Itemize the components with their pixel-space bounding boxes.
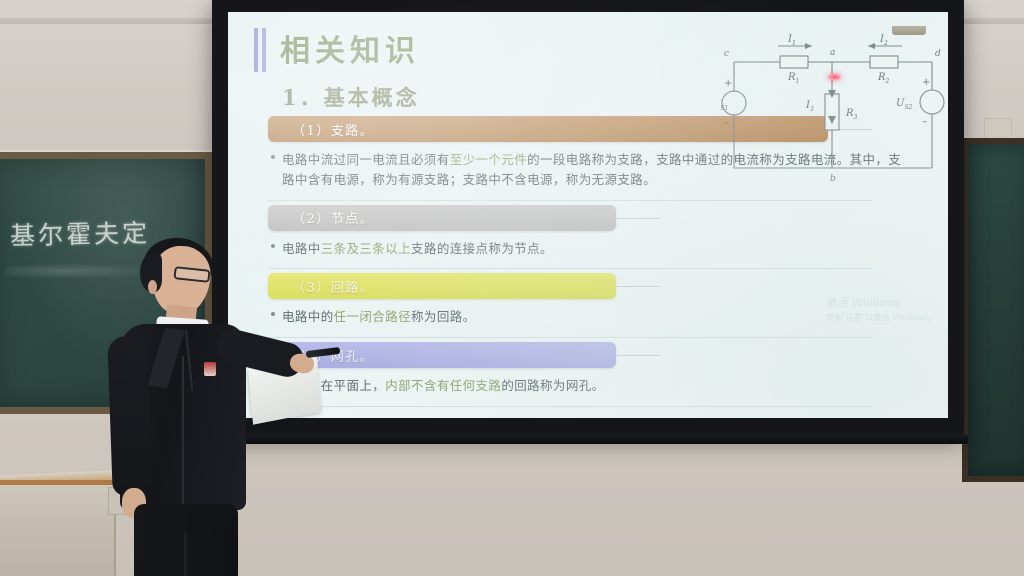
laser-pointer-dot: [828, 74, 841, 80]
blackboard-right: [962, 138, 1024, 482]
trouser-seam: [184, 532, 187, 576]
lectern: [0, 480, 116, 576]
svg-text:R1: R1: [787, 72, 799, 85]
classroom-scene: 基尔霍夫定 相关知识 1．基本概念 （1）支路。 电路中流过同一电流且必须有至少…: [0, 0, 1024, 576]
concept-body-post: 的回路称为网孔。: [501, 378, 604, 393]
concept-heading-bar: （2）节点。: [268, 205, 616, 231]
svg-text:I1: I1: [787, 34, 796, 47]
svg-text:–: –: [724, 116, 730, 129]
bullet-icon: [271, 155, 275, 159]
concept-block-loop: （3）回路。 电路中的任一闭合路径称为回路。: [268, 273, 916, 338]
concept-body-pre: 电路中流过同一电流且必须有: [282, 152, 450, 167]
watermark-line-2: 转到“设置”以激活 Windows。: [826, 312, 935, 323]
concept-block-mesh: （4）网孔。 电路画在平面上，内部不含有任何支路的回路称为网孔。: [268, 342, 916, 407]
watermark-line-1: 激活 Windows: [826, 294, 935, 310]
title-accent-bars: [254, 28, 270, 72]
concept-block-node: （2）节点。 电路中三条及三条以上支路的连接点称为节点。: [268, 205, 916, 270]
laser-pointer: [306, 347, 341, 358]
circuit-svg: c d a b I1 I2 I3 R1 R2 R3 US1: [720, 28, 946, 184]
jacket-zipper: [182, 356, 184, 506]
svg-text:I2: I2: [879, 34, 888, 47]
svg-text:R2: R2: [877, 72, 890, 85]
svg-text:+: +: [724, 78, 732, 89]
circuit-diagram: c d a b I1 I2 I3 R1 R2 R3 US1: [720, 28, 946, 184]
lapel-badge: [204, 362, 216, 376]
divider: [268, 200, 872, 201]
concept-heading-label: （1）支路。: [292, 120, 374, 139]
wall-access-panel: [984, 118, 1012, 140]
svg-text:US2: US2: [896, 98, 913, 111]
divider: [268, 406, 872, 407]
svg-text:b: b: [830, 174, 836, 184]
concept-body-highlight: 内部不含有任何支路: [385, 378, 501, 393]
concept-body: 电路中三条及三条以上支路的连接点称为节点。: [268, 231, 916, 269]
page-title: 相关知识: [280, 26, 420, 70]
windows-activation-watermark: 激活 Windows 转到“设置”以激活 Windows。: [826, 294, 935, 323]
svg-text:I3: I3: [805, 100, 814, 113]
arm-left: [107, 335, 153, 496]
svg-text:R3: R3: [845, 108, 858, 121]
divider: [268, 337, 872, 338]
svg-text:+: +: [922, 77, 930, 88]
divider: [268, 268, 872, 269]
section-subtitle: 1．基本概念: [282, 82, 420, 112]
concept-heading-label: （2）节点。: [292, 208, 374, 227]
presenter: [100, 236, 350, 576]
svg-text:a: a: [830, 48, 835, 58]
concept-body-post: 支路的连接点称为节点。: [411, 241, 553, 256]
concept-body: 电路画在平面上，内部不含有任何支路的回路称为网孔。: [268, 368, 916, 406]
svg-text:d: d: [935, 49, 941, 59]
svg-text:–: –: [922, 115, 928, 128]
concept-body-highlight: 至少一个元件: [450, 152, 527, 167]
svg-text:US1: US1: [720, 99, 728, 112]
svg-text:c: c: [724, 49, 729, 59]
ear: [148, 280, 157, 294]
concept-body: 电路中的任一闭合路径称为回路。: [268, 299, 916, 337]
concept-body-post: 称为回路。: [411, 309, 476, 324]
